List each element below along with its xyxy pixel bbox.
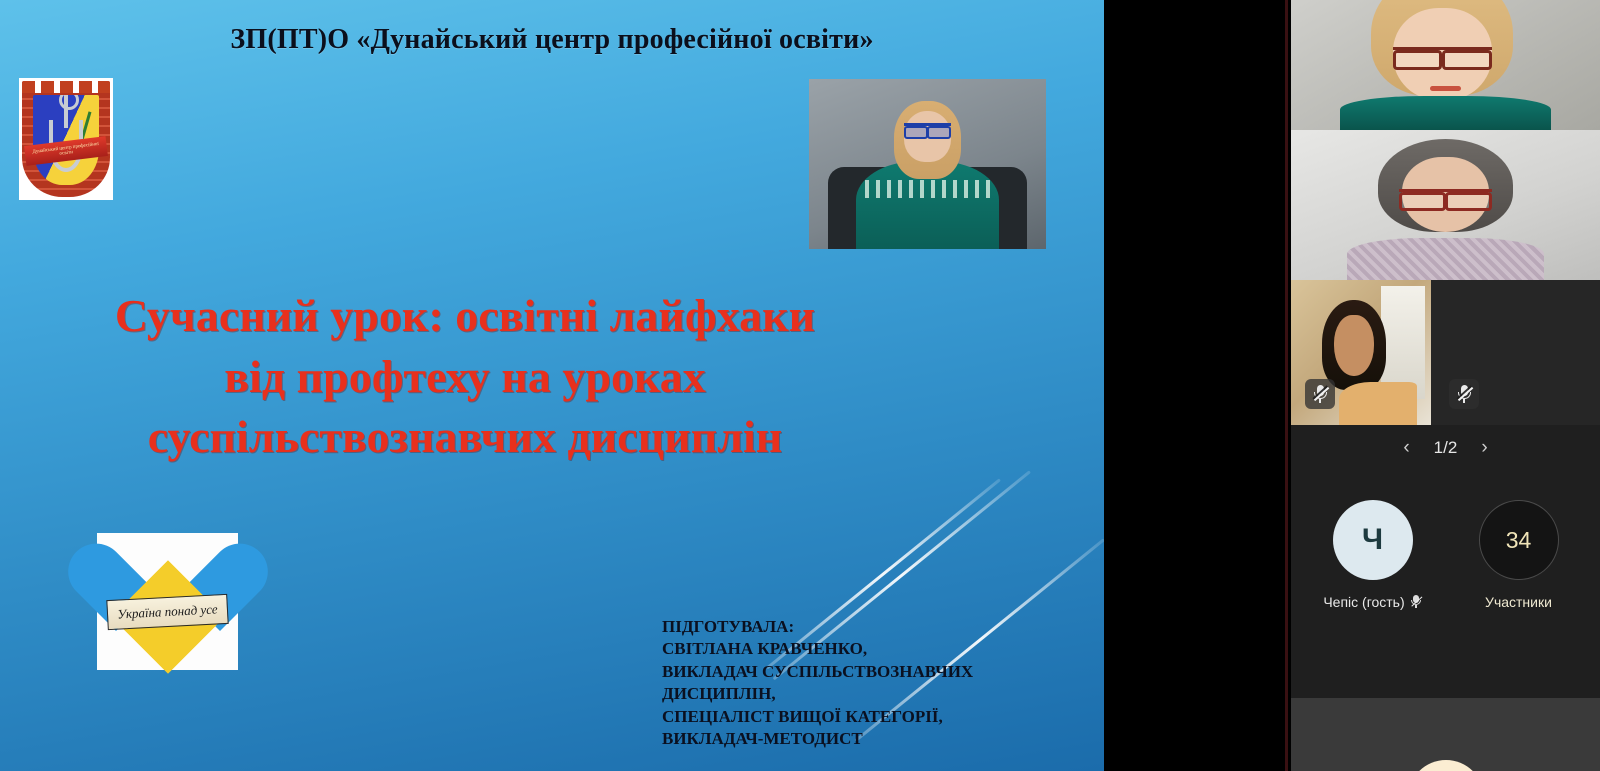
pager-prev-icon[interactable]: ‹ [1403,438,1409,457]
video-thumbnail-presenter[interactable] [1291,0,1600,130]
video-feed-presenter [1291,0,1600,130]
pager-page-label: 1/2 [1434,438,1458,458]
credits-line-1: ПІДГОТУВАЛА: [662,616,1082,638]
heading-line-3: суспільствознавчих дисциплін [60,407,870,468]
video-thumbnail-participant-2[interactable] [1291,130,1600,280]
participant-guest-label: Чепіс (гость) [1323,594,1423,610]
credits-line-6: ВИКЛАДАЧ-МЕТОДИСТ [662,728,1082,750]
shared-slide[interactable]: ЗП(ПТ)О «Дунайський центр професійної ос… [0,0,1104,771]
heading-line-1: Сучасний урок: освітні лайфхаки [60,286,870,347]
school-emblem-logo: Дунайський центр професійної освіти [19,78,113,200]
avatar-participants-count: 34 [1479,500,1559,580]
avatar-guest: Ч [1333,500,1413,580]
credits-line-3: ВИКЛАДАЧ СУСПІЛЬСТВОЗНАВЧИХ [662,661,1082,683]
ukraine-heart-emblem: Україна понад усе [97,533,238,670]
video-thumbnail-participant-3[interactable] [1291,280,1600,425]
participants-sidebar: ‹ 1/2 › Ч Чепіс (гость) 34 Участники [1291,0,1600,771]
meeting-screen: ЗП(ПТ)О «Дунайський центр професійної ос… [0,0,1600,771]
participants-count-text: Участники [1485,594,1552,610]
credits-line-4: ДИСЦИПЛІН, [662,683,1082,705]
slide-header-title: ЗП(ПТ)О «Дунайський центр професійної ос… [0,24,1104,56]
participant-avatars-row: Ч Чепіс (гость) 34 Участники [1291,470,1600,670]
participants-count-tile[interactable]: 34 Участники [1469,500,1569,610]
credits-line-2: СВІТЛАНА КРАВЧЕНКО, [662,638,1082,660]
mic-muted-icon-tile [1449,379,1479,409]
thumbnail-pager: ‹ 1/2 › [1291,425,1600,470]
slide-main-heading: Сучасний урок: освітні лайфхаки від проф… [60,286,870,468]
avatar-bsh: БШ [1408,760,1484,771]
participants-count-label: Участники [1469,594,1569,610]
heart-banner-text: Україна понад усе [106,594,228,630]
participant-guest-name: Чепіс (гость) [1323,594,1404,610]
participant-tile-bsh[interactable]: БШ [1291,698,1600,771]
slide-presenter-photo [809,79,1046,249]
participant-guest[interactable]: Ч Чепіс (гость) [1323,500,1423,610]
sidebar-spacer [1291,670,1600,698]
mic-muted-icon-guest [1411,595,1422,609]
credits-line-5: СПЕЦІАЛІСТ ВИЩОЇ КАТЕГОРІЇ, [662,706,1082,728]
video-feed-participant-2 [1291,130,1600,280]
pager-next-icon[interactable]: › [1481,438,1487,457]
panel-divider [1285,0,1288,771]
letterbox-gap [1104,0,1288,771]
mic-muted-icon-overlay [1305,379,1335,409]
heading-line-2: від профтеху на уроках [60,347,870,408]
slide-credits: ПІДГОТУВАЛА: СВІТЛАНА КРАВЧЕНКО, ВИКЛАДА… [662,616,1082,751]
